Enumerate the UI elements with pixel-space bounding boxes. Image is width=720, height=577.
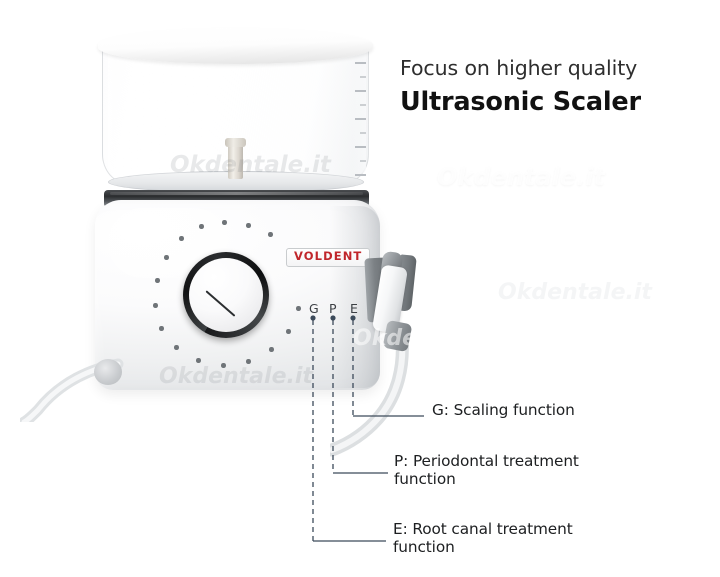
callout-line1: E: Root canal treatment [393,521,659,539]
callout-line1: G: Scaling function [432,402,682,420]
headline-title: Ultrasonic Scaler [400,87,700,118]
cable-grommet [94,359,122,385]
callout-label-periodontal: P: Periodontal treatment function [394,453,656,489]
mode-marker-g: G [309,303,319,316]
callout-line2: function [394,471,656,489]
tank-graduation-scale [355,62,366,177]
callout-label-scaling: G: Scaling function [432,402,682,420]
brand-badge: VOLDENT [286,248,370,267]
water-tank-lid [98,28,373,64]
callout-line1: P: Periodontal treatment [394,453,656,471]
mode-marker-e: E [350,303,358,316]
handpiece-collar [383,320,413,352]
watermark: Okdentale.it [498,280,652,305]
callout-line2: function [393,539,659,557]
headline-block: Focus on higher quality Ultrasonic Scale… [400,57,700,117]
callout-label-root-canal: E: Root canal treatment function [393,521,659,557]
mode-marker-p: P [329,303,337,316]
headline-subtitle: Focus on higher quality [400,57,700,81]
knob-pointer-indicator [206,274,242,310]
tank-water-inlet-connector [228,143,243,179]
tank-highlight-left [108,50,117,172]
product-promo-image: VOLDENT Okdentale.it Okdentale.it Okdent… [0,0,720,577]
